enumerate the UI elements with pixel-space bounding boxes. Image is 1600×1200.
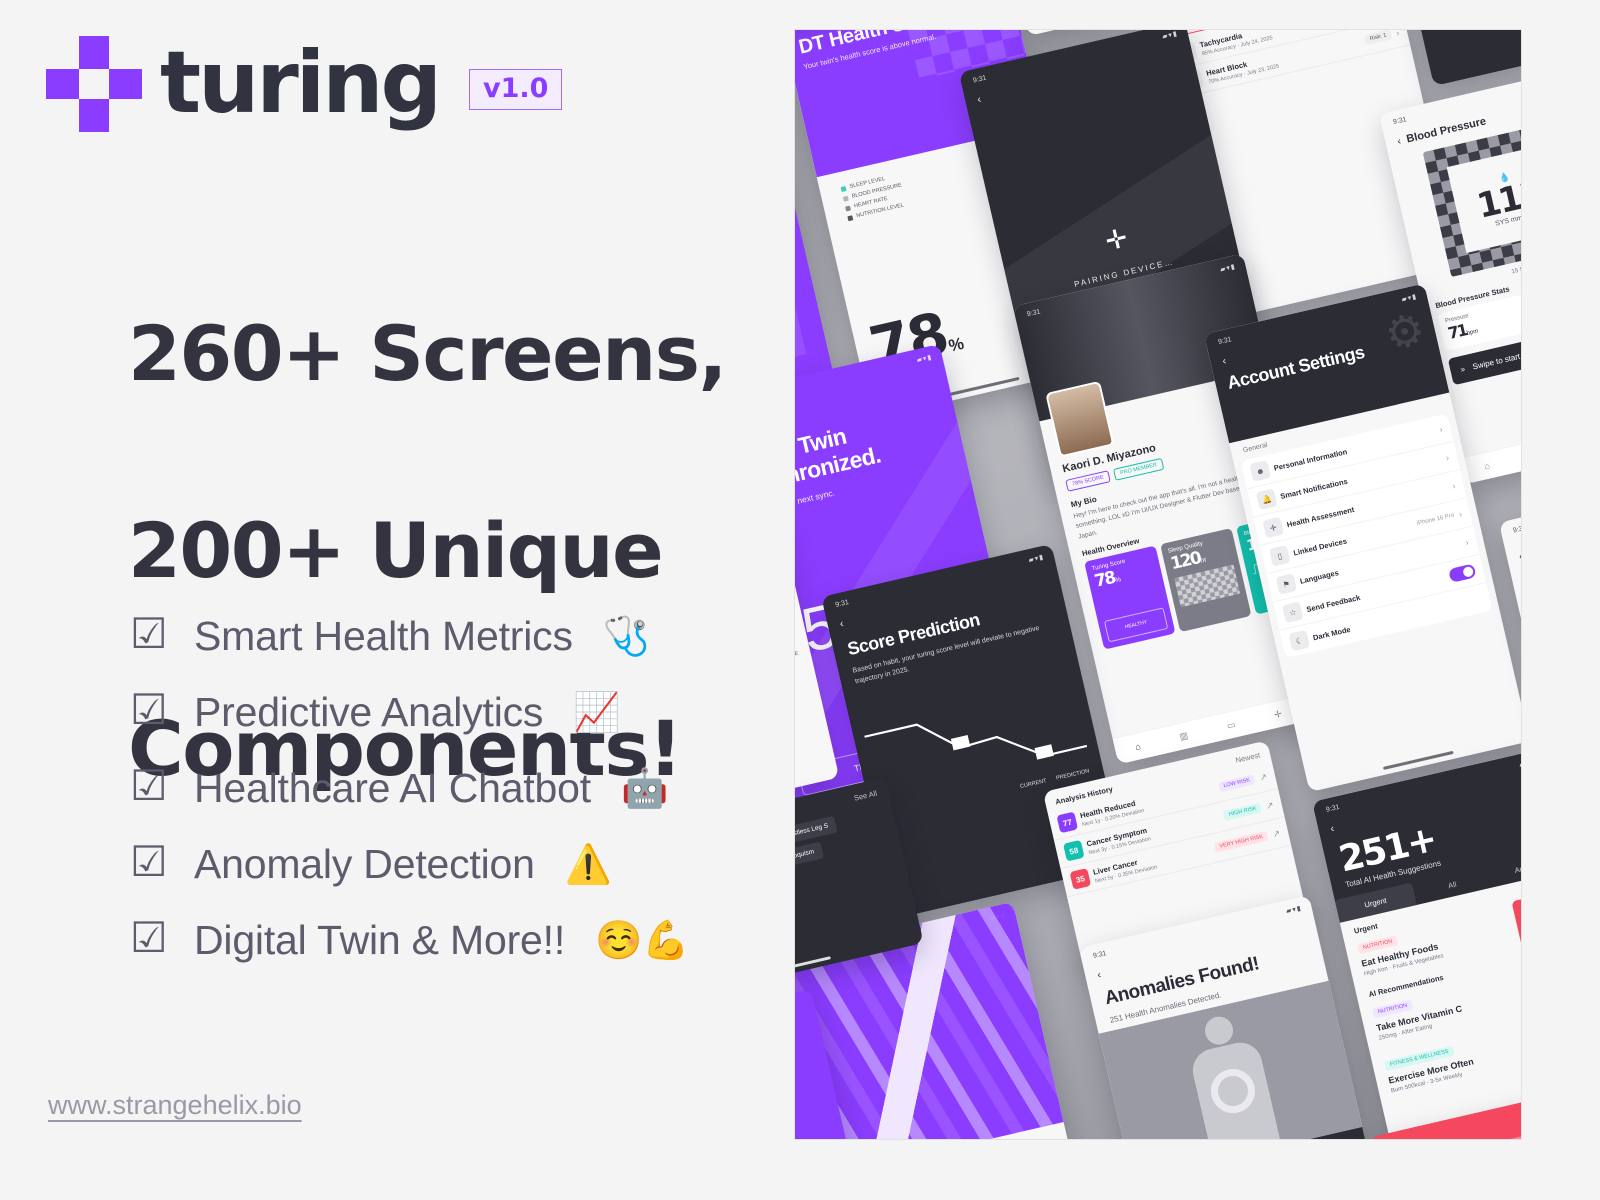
headline-line-2: 200+ Unique: [128, 502, 768, 601]
settings-value: iPhone 16 Pro: [1416, 513, 1454, 527]
status-badge: Risk: 1: [1364, 30, 1392, 45]
feature-label: Digital Twin & More!!: [194, 920, 565, 961]
nav-home-icon[interactable]: ⌂: [1134, 741, 1142, 752]
stethoscope-icon: 🩺: [603, 617, 650, 655]
feature-label: Smart Health Metrics: [194, 616, 573, 657]
card-turing-score[interactable]: Turing Score 78% HEALTHY: [1084, 546, 1175, 650]
card-unit: hr: [1200, 557, 1208, 565]
status-icons: ▰▾▮: [1219, 262, 1236, 273]
back-button[interactable]: ‹: [1518, 551, 1521, 562]
legend-label: AVERAGE: [795, 651, 799, 663]
chevron-double-right-icon: »: [1460, 364, 1466, 374]
smiling-face-flexed-biceps-icon: ☺️💪: [595, 921, 690, 959]
card-tag: HEALTHY: [1104, 607, 1168, 642]
moon-icon: ☾: [1289, 630, 1311, 652]
poster-root: turing v1.0 260+ Screens, 200+ Unique Co…: [0, 0, 1600, 1200]
chip[interactable]: Somniloquism: [795, 842, 824, 871]
chevron-right-icon[interactable]: ›: [1451, 481, 1456, 491]
legend-prediction: PREDICTION: [1056, 769, 1090, 782]
feature-label: Healthcare AI Chatbot: [194, 768, 591, 809]
status-badge: HIGH RISK: [1223, 803, 1262, 821]
sort-dropdown[interactable]: Newest: [1235, 750, 1261, 764]
see-all-link[interactable]: See All: [853, 789, 878, 803]
status-time: 9:31: [1512, 524, 1521, 534]
score-unit: %: [947, 334, 966, 356]
card-sleep-quality[interactable]: Sleep Quality 120hr: [1160, 528, 1251, 632]
website-link[interactable]: www.strangehelix.bio: [48, 1090, 302, 1121]
legend-current: CURRENT: [1020, 778, 1048, 790]
warning-icon: ⚠️: [565, 845, 612, 883]
list-item: ☑ Healthcare AI Chatbot 🤖: [130, 750, 770, 826]
status-icons: ▰▾▮: [1401, 292, 1418, 303]
list-item: ☑ Predictive Analytics 📈: [130, 674, 770, 750]
status-time: 9:31: [835, 599, 850, 609]
status-badge: LOW RISK: [1218, 774, 1256, 792]
brand-lockup: turing v1.0: [46, 36, 562, 132]
checkbox-checked-icon: ☑: [130, 765, 174, 807]
status-badge: VERY HIGH RISK: [1214, 831, 1269, 853]
list-item: ☑ Anomaly Detection ⚠️: [130, 826, 770, 902]
chevron-right-icon[interactable]: ›: [1464, 537, 1469, 547]
checkbox-checked-icon: ☑: [130, 917, 174, 959]
status-time: 9:31: [1026, 308, 1041, 318]
card-value: 78: [1093, 568, 1117, 592]
chevron-right-icon[interactable]: ›: [1438, 424, 1443, 434]
checkbox-checked-icon: ☑: [130, 613, 174, 655]
status-time: 9:31: [1217, 336, 1232, 346]
arrow-up-right-icon[interactable]: ↗: [1258, 771, 1268, 783]
star-icon: ☆: [1282, 602, 1304, 624]
score-chip: 58: [1063, 840, 1085, 862]
status-icons: ▰▾▮: [916, 353, 933, 364]
status-icons: ▰▾▮: [1285, 904, 1302, 915]
arrow-up-right-icon[interactable]: ↗: [1271, 827, 1281, 839]
status-time: 9:31: [1092, 950, 1107, 960]
version-badge: v1.0: [469, 69, 562, 110]
chevron-right-icon[interactable]: ›: [1395, 30, 1400, 38]
card-unit: %: [1114, 576, 1122, 584]
nav-stats-icon[interactable]: ▥: [1178, 730, 1189, 743]
swipe-label: Swipe to start reading.: [1472, 345, 1521, 372]
feature-label: Predictive Analytics: [194, 692, 543, 733]
feature-label: Anomaly Detection: [194, 844, 535, 885]
feature-list: ☑ Smart Health Metrics 🩺 ☑ Predictive An…: [130, 598, 770, 978]
bell-icon: 🔔: [1256, 488, 1278, 510]
health-icon: ✛: [1262, 517, 1284, 539]
bp-gauge: 💧 113 SYS mm/Hg: [1423, 119, 1521, 277]
headline-line-1: 260+ Screens,: [128, 305, 768, 404]
plus-cross-icon: [46, 36, 142, 132]
wordmark: turing: [160, 44, 439, 123]
decor-stripe: [795, 130, 806, 360]
collage-canvas: edicine certainty and an a probability."…: [795, 30, 1521, 1139]
flag-icon: ⚑: [1275, 573, 1297, 595]
arrow-up-right-icon[interactable]: ↗: [1265, 799, 1275, 811]
chevron-right-icon[interactable]: ›: [1445, 452, 1450, 462]
score-chip: 35: [1070, 868, 1092, 890]
stat-value: 71: [1446, 320, 1468, 343]
status-time: 9:31: [1392, 116, 1407, 126]
person-icon: ☻: [1249, 460, 1271, 482]
robot-icon: 🤖: [621, 769, 668, 807]
checkbox-checked-icon: ☑: [130, 689, 174, 731]
left-column: turing v1.0 260+ Screens, 200+ Unique Co…: [0, 0, 780, 1200]
checkbox-checked-icon: ☑: [130, 841, 174, 883]
avatar[interactable]: [1045, 381, 1114, 458]
phone-icon: ▯: [1269, 545, 1291, 567]
status-time: 9:31: [1325, 803, 1340, 813]
dark-mode-toggle[interactable]: [1448, 563, 1476, 582]
screens-collage: edicine certainty and an a probability."…: [795, 30, 1521, 1139]
back-button[interactable]: ‹: [1396, 136, 1402, 147]
nav-chat-icon[interactable]: ▭: [1226, 719, 1237, 732]
status-icons: ▰▾▮: [1518, 758, 1521, 769]
chevron-right-icon[interactable]: ›: [1458, 509, 1463, 519]
stat-unit: bpm: [1466, 328, 1479, 336]
nav-twin-icon[interactable]: ✛: [1273, 708, 1283, 720]
status-icons: ▰▾▮: [1028, 553, 1045, 564]
chart-increasing-icon: 📈: [573, 693, 620, 731]
nav-home-icon[interactable]: ⌂: [1483, 460, 1491, 471]
score-chip: 77: [1056, 812, 1078, 834]
list-item: ☑ Smart Health Metrics 🩺: [130, 598, 770, 674]
list-item: ☑ Digital Twin & More!! ☺️💪: [130, 902, 770, 978]
